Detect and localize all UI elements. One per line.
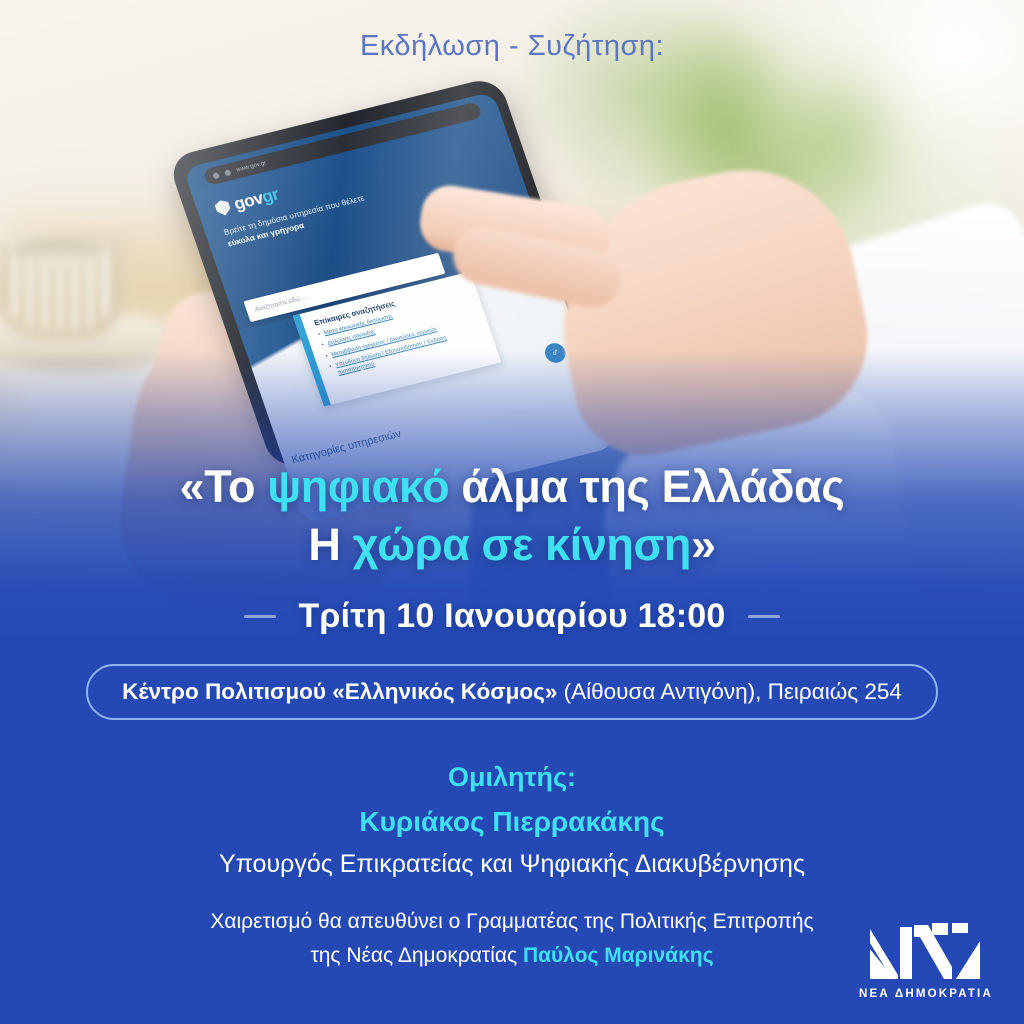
party-logo: ΝΕΑ ΔΗΜΟΚΡΑΤΙΑ bbox=[850, 923, 1002, 1000]
title-line-1: «Το ψηφιακό άλμα της Ελλάδας bbox=[0, 458, 1024, 516]
poster-content: Εκδήλωση - Συζήτηση: «Το ψηφιακό άλμα τη… bbox=[0, 0, 1024, 1024]
venue-name: Κέντρο Πολιτισμού «Ελληνικός Κόσμος» bbox=[122, 679, 557, 704]
venue-address: (Αίθουσα Αντιγόνη), Πειραιώς 254 bbox=[557, 679, 902, 704]
greeting-prefix: της Νέας Δημοκρατίας bbox=[310, 944, 523, 967]
nd-monogram-icon bbox=[868, 923, 984, 981]
page-title: «Το ψηφιακό άλμα της Ελλάδας Η χώρα σε κ… bbox=[0, 458, 1024, 573]
greeting-person-name: Παύλος Μαρινάκης bbox=[523, 944, 714, 967]
party-name: ΝΕΑ ΔΗΜΟΚΡΑΤΙΑ bbox=[850, 988, 1002, 1000]
speaker-name: Κυριάκος Πιερρακάκης bbox=[0, 806, 1024, 838]
divider-right bbox=[748, 615, 780, 618]
speaker-label: Ομιλητής: bbox=[0, 762, 1024, 793]
kicker-text: Εκδήλωση - Συζήτηση: bbox=[0, 30, 1024, 63]
title-part-1a: «Το bbox=[180, 461, 268, 512]
title-part-2a: Η bbox=[308, 519, 352, 570]
venue-badge: Κέντρο Πολιτισμού «Ελληνικός Κόσμος» (Αί… bbox=[86, 664, 938, 720]
event-datetime: Τρίτη 10 Ιανουαρίου 18:00 bbox=[0, 597, 1024, 636]
title-part-2b: » bbox=[691, 519, 716, 570]
event-date-text: Τρίτη 10 Ιανουαρίου 18:00 bbox=[298, 597, 725, 636]
venue-container: Κέντρο Πολιτισμού «Ελληνικός Κόσμος» (Αί… bbox=[0, 664, 1024, 720]
speaker-role: Υπουργός Επικρατείας και Ψηφιακής Διακυβ… bbox=[0, 850, 1024, 879]
title-accent-1: ψηφιακό bbox=[267, 461, 449, 512]
title-accent-2: χώρα σε κίνηση bbox=[353, 519, 691, 570]
title-part-1b: άλμα της Ελλάδας bbox=[449, 461, 844, 512]
event-poster: www.gov.gr govgr Βρείτε τη δημόσια υπηρε… bbox=[0, 0, 1024, 1024]
title-line-2: Η χώρα σε κίνηση» bbox=[0, 516, 1024, 574]
divider-left bbox=[244, 615, 276, 618]
